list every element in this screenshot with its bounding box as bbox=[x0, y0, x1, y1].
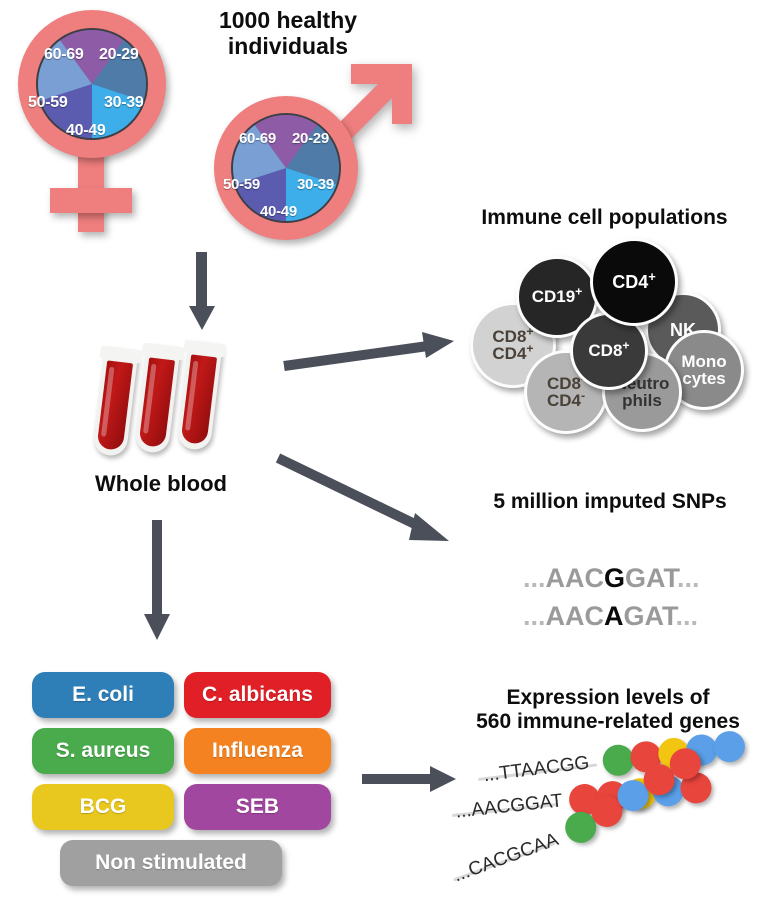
stimulation-label: Non stimulated bbox=[95, 851, 247, 875]
expression-bead bbox=[712, 729, 747, 764]
expression-section-title: Expression levels of 560 immune-related … bbox=[452, 686, 764, 733]
stimulation-box-s-aureus[interactable]: S. aureus bbox=[32, 728, 174, 774]
strand-sequence: ...CACGCAA bbox=[451, 829, 562, 887]
stimulation-box-non-stimulated[interactable]: Non stimulated bbox=[60, 840, 282, 886]
immune-cell-cluster: CD8+CD4+ CD8-CD4- CD19+ Monocytes NK Neu… bbox=[0, 0, 771, 440]
immune-cell-label: CD4+ bbox=[612, 273, 656, 291]
snp-suffix: ... bbox=[676, 601, 699, 631]
strand-sequence: ...TTAACGG bbox=[482, 752, 590, 787]
snp-variant: A bbox=[604, 601, 624, 631]
strand-sequence: ...AACGGAT bbox=[455, 790, 564, 823]
snp-left: AAC bbox=[546, 601, 605, 631]
snp-sequence-row: ...AACAGAT... bbox=[478, 570, 698, 663]
snp-prefix: ... bbox=[523, 601, 546, 631]
stimulation-grid: E. coli C. albicans S. aureus Influenza … bbox=[32, 672, 332, 902]
snps-section-title: 5 million imputed SNPs bbox=[460, 490, 760, 514]
immune-cell-label: CD8+ bbox=[588, 342, 629, 359]
immune-cell-label: CD19+ bbox=[532, 288, 583, 305]
stimulation-box-seb[interactable]: SEB bbox=[184, 784, 331, 830]
immune-cell-label: CD8-CD4- bbox=[547, 375, 585, 410]
stimulation-box-bcg[interactable]: BCG bbox=[32, 784, 174, 830]
immune-cell-cd4plus: CD4+ bbox=[590, 238, 678, 326]
stimulation-box-influenza[interactable]: Influenza bbox=[184, 728, 331, 774]
stimulation-label: SEB bbox=[236, 795, 279, 819]
stimulation-label: E. coli bbox=[72, 683, 134, 707]
arrow-blood-to-snps bbox=[276, 455, 466, 550]
arrow-shaft bbox=[152, 520, 162, 618]
arrow-blood-to-stimulations bbox=[140, 520, 176, 650]
immune-cell-label: CD8+CD4+ bbox=[492, 328, 533, 363]
arrow-shaft bbox=[362, 774, 434, 784]
expression-strand-group: ...TTAACGG ...AACGGAT ...CACGCAA bbox=[460, 740, 771, 915]
arrow-head bbox=[144, 614, 170, 640]
immune-cell-label: Monocytes bbox=[681, 353, 726, 388]
stimulation-box-c-albicans[interactable]: C. albicans bbox=[184, 672, 331, 718]
stimulation-label: BCG bbox=[80, 795, 127, 819]
arrow-stimulations-to-expression bbox=[362, 762, 472, 796]
diagram-canvas: 20-29 30-39 40-49 50-59 60-69 1000 healt… bbox=[0, 0, 771, 922]
arrow-head bbox=[430, 766, 456, 792]
stimulation-label: S. aureus bbox=[56, 739, 151, 763]
stimulation-label: Influenza bbox=[212, 739, 303, 763]
stimulation-label: C. albicans bbox=[202, 683, 313, 707]
snp-sequence-block: ...AACGGAT... ...AACAGAT... bbox=[470, 532, 760, 622]
snp-right: GAT bbox=[624, 601, 676, 631]
whole-blood-label: Whole blood bbox=[66, 472, 256, 497]
stimulation-box-e-coli[interactable]: E. coli bbox=[32, 672, 174, 718]
